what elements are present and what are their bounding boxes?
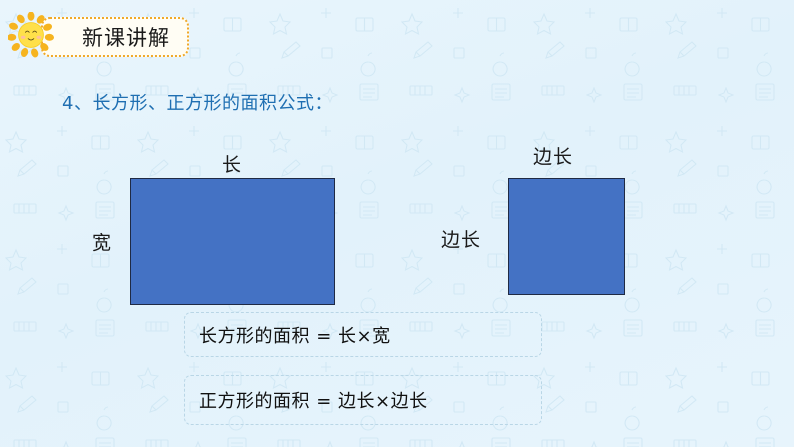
section-title-label: 新课讲解 <box>60 22 170 52</box>
rectangle-length-label: 长 <box>222 150 242 177</box>
square-area-formula-text: 正方形的面积 = 边长×边长 <box>185 387 428 413</box>
square-area-formula-box: 正方形的面积 = 边长×边长 <box>184 375 542 425</box>
square-figure <box>508 178 625 295</box>
rectangle-area-formula-box: 长方形的面积 = 长×宽 <box>184 312 542 357</box>
page-title: 4、长方形、正方形的面积公式： <box>62 89 333 115</box>
rectangle-area-formula-text: 长方形的面积 = 长×宽 <box>185 322 391 348</box>
square-left-side-label: 边长 <box>441 225 481 252</box>
rectangle-figure <box>130 178 335 305</box>
section-title-chip: 新课讲解 <box>41 17 189 57</box>
sun-smile-icon <box>8 12 54 58</box>
square-top-side-label: 边长 <box>533 142 573 169</box>
rectangle-width-label: 宽 <box>92 228 112 255</box>
